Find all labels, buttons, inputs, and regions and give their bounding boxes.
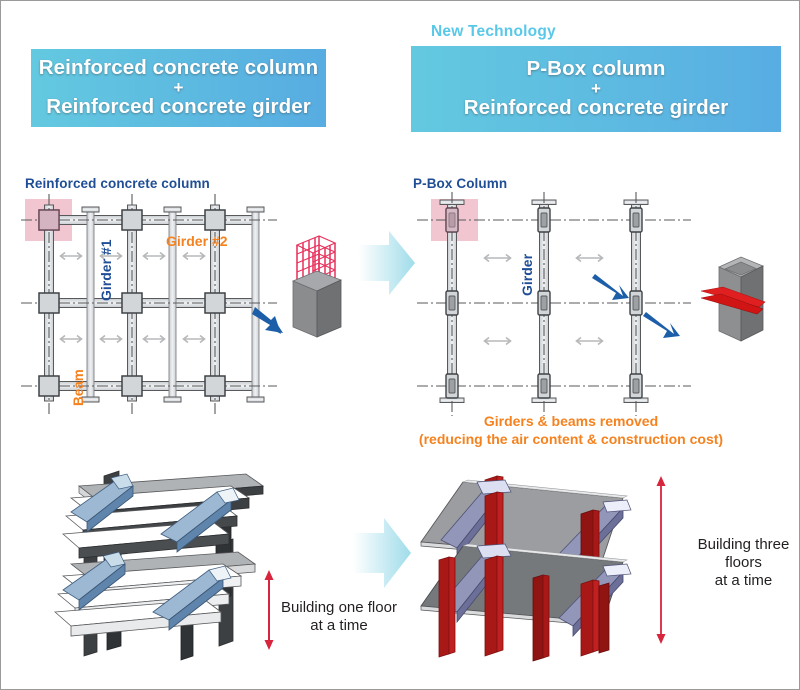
banner-left-line1: Reinforced concrete column xyxy=(39,57,318,80)
removed-members-caption: Girders & beams removed (reducing the ai… xyxy=(401,413,741,448)
transition-arrow-lower xyxy=(353,516,413,592)
concrete-column-solid xyxy=(293,271,341,337)
dimcap-left-line2: at a time xyxy=(269,617,409,635)
banner-left-plus: + xyxy=(173,80,183,96)
banner-right-line2: Reinforced concrete girder xyxy=(464,97,729,120)
dimcap-right-line3: at a time xyxy=(691,572,796,590)
dimcap-left-line1: Building one floor xyxy=(269,599,409,617)
banner-left-line2: Reinforced concrete girder xyxy=(46,96,311,119)
iso-view-left-rc-frame xyxy=(41,456,341,671)
dimension-caption-right: Building three floors at a time xyxy=(691,536,796,590)
diagram-canvas: Reinforced concrete column + Reinforced … xyxy=(0,0,800,690)
pbox-column-detail-3d xyxy=(701,249,781,349)
caption-line-2: (reducing the air content & construction… xyxy=(401,431,741,449)
dimension-arrow-right xyxy=(657,476,666,644)
plan-view-right xyxy=(409,186,699,421)
tag-beam: Beam xyxy=(71,369,86,406)
banner-right-plus: + xyxy=(591,81,601,97)
plan-view-left xyxy=(15,186,305,421)
new-technology-badge: New Technology xyxy=(431,23,556,41)
banner-right-line1: P-Box column xyxy=(526,58,665,81)
tag-girder-right: Girder xyxy=(519,254,535,296)
iso-view-right-pbox-frame xyxy=(413,456,713,671)
header-banner-right: P-Box column + Reinforced concrete girde… xyxy=(411,46,781,132)
pointer-arrow-left xyxy=(251,306,291,340)
dimension-caption-left: Building one floor at a time xyxy=(269,599,409,635)
header-banner-left: Reinforced concrete column + Reinforced … xyxy=(31,49,326,127)
dimcap-right-line2: floors xyxy=(691,554,796,572)
dimcap-right-line1: Building three xyxy=(691,536,796,554)
tag-girder-2: Girder #2 xyxy=(166,233,227,249)
caption-line-1: Girders & beams removed xyxy=(401,413,741,431)
tag-girder-1: Girder #1 xyxy=(98,240,114,301)
